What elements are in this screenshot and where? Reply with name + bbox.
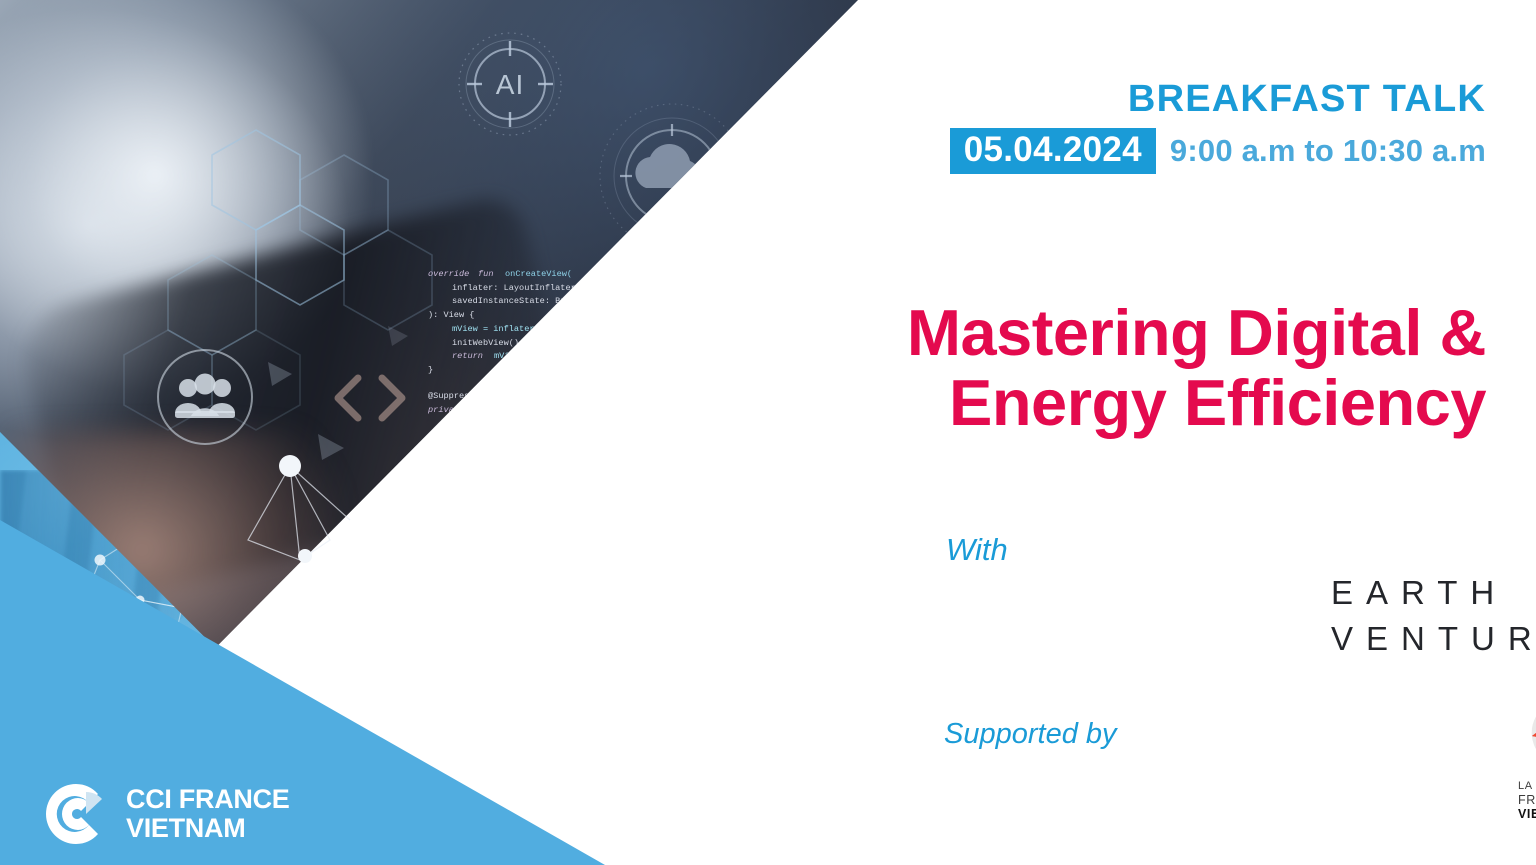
svg-text:@SuppressLint: @SuppressLint	[428, 391, 495, 401]
ai-badge-icon: AI	[459, 33, 561, 135]
cci-logo-mark	[40, 778, 112, 850]
content-panel: BREAKFAST TALK 05.04.2024 9:00 a.m to 10…	[836, 0, 1536, 865]
event-time: 9:00 a.m to 10:30 a.m	[1170, 133, 1486, 169]
rooster-pin-icon	[1496, 700, 1536, 778]
french-tech-line2: FRENCH TECH	[1518, 793, 1536, 807]
svg-text:override: override	[428, 269, 469, 279]
svg-text:): View {: ): View {	[428, 310, 474, 320]
event-title-line2: Energy Efficiency	[866, 368, 1486, 438]
earth-venture-line1: EARTH	[1331, 570, 1536, 616]
cci-logo-line2: VIETNAM	[126, 814, 290, 843]
code-glyph-icon	[338, 378, 402, 418]
event-title: Mastering Digital & Energy Efficiency	[866, 298, 1486, 438]
svg-text:initWebView(): initWebView()	[452, 338, 519, 348]
svg-text:AI: AI	[496, 69, 524, 100]
with-label: With	[946, 532, 1008, 568]
svg-text:mView = inflater.infla: mView = inflater.infla	[452, 324, 565, 334]
french-tech-line1: LA	[1518, 780, 1536, 793]
svg-text:return: return	[452, 351, 483, 361]
supported-by-label: Supported by	[944, 718, 1117, 751]
svg-text:inflater: LayoutInflater, cont: inflater: LayoutInflater, cont	[452, 283, 607, 293]
people-icon	[158, 350, 252, 444]
svg-text:mView: mView	[494, 351, 521, 361]
artwork-panel: AI	[0, 0, 900, 865]
french-tech-mark	[1496, 700, 1536, 778]
cci-logo-line1: CCI FRANCE	[126, 785, 290, 814]
svg-text:fun: fun	[478, 269, 493, 279]
event-date-badge: 05.04.2024	[950, 128, 1156, 174]
event-banner: AI	[0, 0, 1536, 865]
arrow-accents	[268, 326, 408, 460]
event-kicker: BREAKFAST TALK	[1128, 78, 1486, 121]
earth-venture-line2-text: VENTUR	[1331, 616, 1536, 662]
event-title-line1: Mastering Digital &	[866, 298, 1486, 368]
french-tech-line3: VIETNAM	[1518, 807, 1536, 821]
cci-france-vietnam-logo: CCI FRANCE VIETNAM	[40, 778, 290, 850]
svg-text:}: }	[428, 365, 433, 375]
svg-text:savedInstanceState: Bundle?: savedInstanceState: Bundle?	[452, 296, 591, 306]
svg-text:private fu: private fu	[427, 405, 480, 415]
earth-venture-line2: VENTUR	[1331, 616, 1536, 662]
svg-text:onCreateView(: onCreateView(	[505, 269, 572, 279]
earth-venture-logo: EARTH VENTUR	[1331, 570, 1536, 661]
svg-text:if (: if (	[452, 419, 473, 429]
code-snippet: override fun onCreateView( inflater: Lay…	[427, 269, 607, 429]
french-tech-vietnam-logo: LA FRENCH TECH VIETNAM	[1496, 700, 1536, 821]
cloud-icon	[600, 104, 744, 248]
date-time-row: 05.04.2024 9:00 a.m to 10:30 a.m	[950, 128, 1486, 174]
network-nodes-upper	[248, 455, 350, 563]
french-tech-wordmark: LA FRENCH TECH VIETNAM	[1496, 780, 1536, 821]
